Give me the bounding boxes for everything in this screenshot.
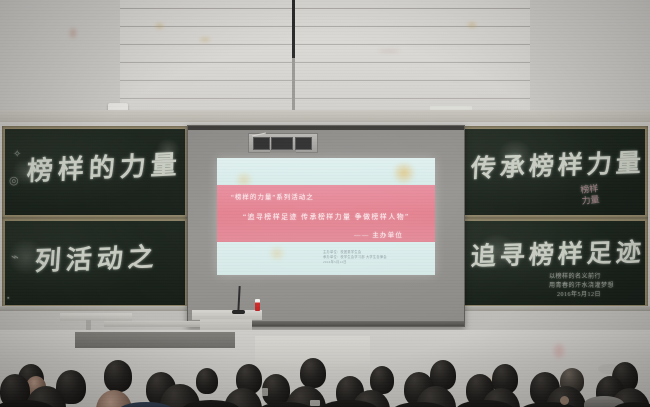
audience-head	[300, 358, 326, 388]
chalk-mark: ▪	[7, 293, 10, 304]
ceiling-panel-array	[120, 0, 530, 112]
blackboard-surface: 传承榜样力量 榜样 力量	[465, 129, 645, 215]
projection-screen: “榜样的力量”系列活动之 “追寻榜样足迹 传承榜样力量 争做榜样人物” —— 主…	[187, 125, 465, 327]
projector-bracket	[270, 150, 296, 153]
slide-decor-blob	[391, 162, 417, 184]
chalk-mark: ◎	[9, 173, 19, 190]
audience-head	[104, 360, 132, 392]
projected-slide: “榜样的力量”系列活动之 “追寻榜样足迹 传承榜样力量 争做榜样人物” —— 主…	[217, 158, 435, 275]
audience-hand	[560, 396, 569, 405]
lecture-hall-photo: 榜样的力量 ✧ ◎ 列活动之 ⌁ ▪ 传承榜样力量 榜样 力量 追寻榜样足迹 以…	[0, 0, 650, 407]
chalk-text-left-bottom: 列活动之	[34, 237, 161, 278]
chalk-note-right-bottom-date: 2016年5月12日	[557, 291, 601, 300]
wall-mark	[156, 24, 163, 28]
side-table	[60, 313, 132, 321]
chalk-text-right-top: 传承榜样力量	[470, 143, 645, 185]
wall-mark	[378, 50, 400, 52]
chalk-text-left-top: 榜样的力量	[26, 144, 182, 188]
audience-paper	[310, 400, 320, 406]
blackboard-right-top: 传承榜样力量 榜样 力量	[462, 126, 648, 218]
audience-head	[196, 368, 218, 394]
chalk-text-right-bottom: 追寻榜样足迹	[470, 232, 645, 273]
blackboard-surface: 榜样的力量 ✧ ◎	[5, 129, 185, 215]
slide-heading: “榜样的力量”系列活动之	[231, 191, 314, 201]
chalk-ledge-right	[463, 306, 650, 311]
wall-mark	[70, 28, 76, 38]
chalk-mark: ✧	[13, 147, 22, 162]
chalk-mark: ⌁	[11, 247, 19, 267]
slide-signature: —— 主办单位	[354, 229, 403, 239]
chalk-note-right-bottom: 以榜样的名义前行 用青春的汗水浇灌梦想	[549, 273, 614, 291]
slide-quote: “追寻榜样足迹 传承榜样力量 争做榜样人物”	[243, 212, 410, 222]
blackboard-surface: 追寻榜样足迹 以榜样的名义前行 用青春的汗水浇灌梦想 2016年5月12日	[465, 221, 645, 305]
water-bottle	[255, 299, 260, 311]
screen-top-roller	[188, 126, 464, 130]
audience	[0, 330, 650, 407]
audience-paper	[262, 388, 268, 396]
blackboard-left-bottom: 列活动之 ⌁ ▪	[2, 218, 188, 308]
upper-wall	[0, 0, 650, 122]
wall-mark	[468, 23, 476, 27]
projector-mount-rod	[292, 0, 295, 60]
chalk-note-right-top: 榜样 力量	[580, 183, 600, 206]
chalk-ledge-left	[0, 306, 187, 311]
blackboard-right-bottom: 追寻榜样足迹 以榜样的名义前行 用青春的汗水浇灌梦想 2016年5月12日	[462, 218, 648, 308]
upper-wall-left	[0, 0, 122, 122]
wall-mark	[200, 38, 210, 41]
slide-decor-blob	[267, 246, 287, 261]
upper-wall-right	[528, 0, 650, 122]
blackboard-left-top: 榜样的力量 ✧ ◎	[2, 126, 188, 218]
microphone-base	[232, 310, 245, 314]
slide-footer: 主办单位：校团委学生会 承办单位：校学生会学习部 大学生自律会 2016年5月1…	[323, 250, 387, 265]
blackboard-surface: 列活动之 ⌁ ▪	[5, 221, 185, 305]
